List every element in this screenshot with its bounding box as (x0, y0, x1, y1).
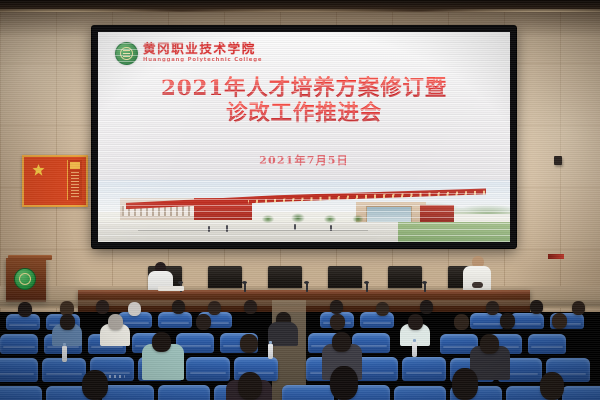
poster-side-emblem-icon (70, 162, 80, 169)
speaker-right-hands (472, 282, 483, 288)
audience-head (486, 301, 499, 315)
slide-title: 2021年人才培养方案修订暨 诊改工作推进会 (98, 76, 510, 126)
institution-name-en: Huanggang Polytechnic College (143, 58, 262, 63)
panorama-trees (258, 210, 378, 224)
audience-head (108, 314, 123, 330)
audience-head (196, 314, 211, 330)
slide-title-line-2: 诊改工作推进会 (98, 101, 510, 126)
wall-marker (548, 254, 564, 259)
audience-head (18, 302, 32, 317)
institution-logo: 黄冈职业技术学院 Huanggang Polytechnic College (115, 42, 262, 65)
audience-head (452, 368, 478, 400)
audience-head (152, 332, 171, 352)
audience-head (500, 313, 515, 329)
audience-seat (562, 386, 600, 400)
audience-seat (510, 313, 544, 329)
audience-head (82, 370, 108, 400)
campus-panorama (98, 180, 510, 242)
poster-side-text (71, 171, 79, 197)
audience-seat (158, 312, 192, 328)
microphone-icon (244, 283, 246, 292)
audience-head (540, 372, 564, 400)
panorama-figure (226, 225, 228, 232)
audience-area (0, 300, 600, 400)
head-table-chair (388, 266, 422, 288)
audience-head (128, 302, 141, 316)
documents-on-table (158, 286, 184, 291)
audience-seat (102, 385, 154, 400)
poster-side-panel (67, 160, 82, 200)
audience-head (572, 301, 585, 315)
panorama-lawn (398, 222, 510, 242)
water-bottle (268, 344, 273, 359)
audience-head (60, 314, 75, 330)
audience-head (172, 300, 185, 314)
audience-head (244, 300, 257, 314)
speaker-right-torso (463, 266, 491, 292)
audience-head (454, 314, 469, 330)
panorama-figure (208, 226, 210, 232)
party-emblem-poster (22, 155, 88, 207)
head-table-chair (208, 266, 242, 288)
audience-head (208, 301, 221, 315)
audience-head (408, 314, 423, 330)
speaker-right (462, 256, 492, 292)
audience-head (552, 313, 567, 329)
led-screen-surface: 黄冈职业技术学院 Huanggang Polytechnic College 2… (98, 32, 510, 242)
audience-seat (470, 313, 504, 329)
audience-head (376, 302, 389, 316)
audience-head (240, 334, 258, 353)
audience-floor-band (0, 300, 600, 306)
college-emblem-icon (115, 42, 138, 65)
audience-head (238, 372, 262, 400)
hammer-sickle-icon (32, 164, 45, 177)
audience-head (530, 300, 543, 314)
led-screen: 黄冈职业技术学院 Huanggang Polytechnic College 2… (92, 26, 516, 248)
water-bottle (412, 342, 417, 357)
audience-torso (268, 322, 298, 346)
panorama-figure (294, 224, 296, 230)
head-table-edge (78, 290, 530, 294)
audience-head (96, 300, 109, 314)
panorama-figure (330, 225, 332, 231)
lectern-top (8, 255, 52, 260)
wall-speaker-icon (554, 156, 562, 165)
audience-seat (282, 385, 334, 400)
audience-seat (528, 334, 566, 354)
panorama-plaza-line (138, 230, 368, 231)
head-table-chair (328, 266, 362, 288)
lectern (6, 258, 46, 302)
audience-head (420, 300, 433, 314)
slide-date: 2021年7月5日 (98, 152, 510, 168)
institution-name-cn: 黄冈职业技术学院 (143, 43, 262, 56)
audience-seat (186, 357, 230, 381)
water-bottle (62, 346, 67, 362)
microphone-icon (366, 283, 368, 292)
audience-head (480, 334, 499, 354)
audience-seat (394, 386, 446, 400)
audience-head (330, 300, 343, 314)
audience-seat (158, 385, 210, 400)
head-table-chair (268, 266, 302, 288)
audience-seat (0, 358, 38, 382)
audience-head (330, 314, 345, 330)
audience-seat (402, 357, 446, 381)
conference-hall-photo: 黄冈职业技术学院 Huanggang Polytechnic College 2… (0, 0, 600, 400)
slide-title-line-1: 2021年人才培养方案修订暨 (98, 76, 510, 101)
audience-head (332, 332, 351, 352)
audience-seat (0, 334, 38, 354)
audience-seat (0, 386, 42, 400)
audience-head (330, 366, 358, 400)
college-emblem-icon (14, 268, 36, 290)
microphone-icon (306, 283, 308, 292)
microphone-icon (424, 283, 426, 292)
